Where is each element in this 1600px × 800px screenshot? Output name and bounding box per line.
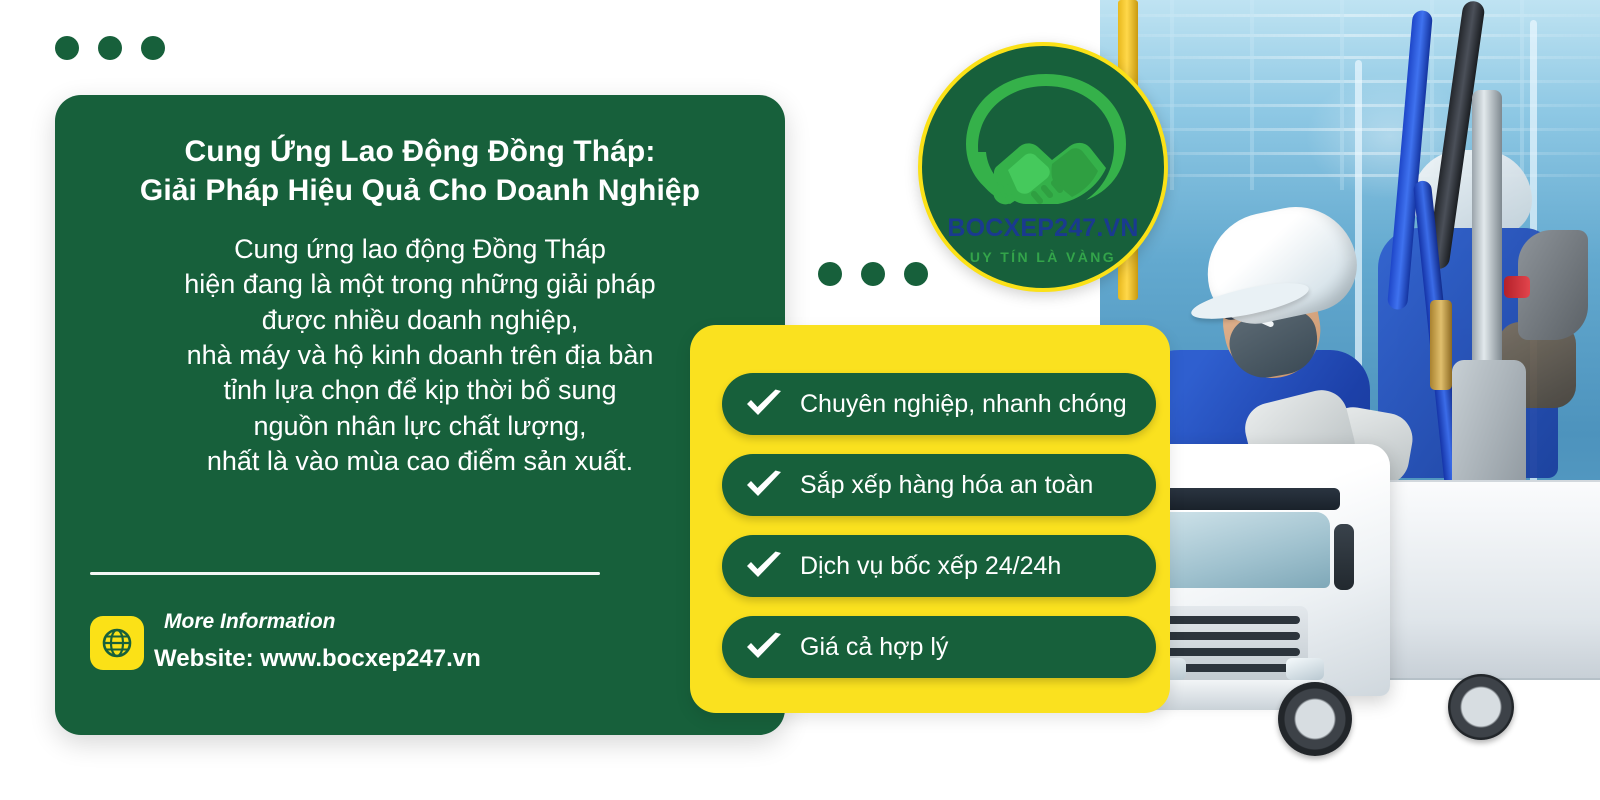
body-line: nhà máy và hộ kinh doanh trên địa bàn	[75, 338, 765, 373]
website-link[interactable]: Website: www.bocxep247.vn	[154, 645, 481, 673]
body-line: được nhiều doanh nghiệp,	[75, 303, 765, 338]
page-title: Cung Ứng Lao Động Đồng Tháp: Giải Pháp H…	[95, 132, 745, 210]
headline-line-2: Giải Pháp Hiệu Quả Cho Doanh Nghiệp	[95, 171, 745, 210]
feature-pill[interactable]: Chuyên nghiệp, nhanh chóng	[722, 373, 1156, 435]
promo-banner: Cung Ứng Lao Động Đồng Tháp: Giải Pháp H…	[0, 0, 1600, 800]
info-card: Cung Ứng Lao Động Đồng Tháp: Giải Pháp H…	[55, 95, 785, 735]
dot-icon	[141, 36, 165, 60]
feature-pill[interactable]: Sắp xếp hàng hóa an toàn	[722, 454, 1156, 516]
truck-wheel-rear	[1448, 674, 1514, 740]
globe-icon	[90, 616, 144, 670]
dot-icon	[861, 262, 885, 286]
check-icon	[744, 631, 784, 663]
red-indicator	[1504, 276, 1530, 298]
truck-trailer	[1365, 480, 1600, 680]
logo-tagline-text: UY TÍN LÀ VÀNG	[922, 249, 1164, 265]
feature-pill[interactable]: Giá cả hợp lý	[722, 616, 1156, 678]
decor-dots-top-left	[55, 36, 165, 60]
body-copy: Cung ứng lao động Đồng Tháp hiện đang là…	[75, 232, 765, 480]
body-line: hiện đang là một trong những giải pháp	[75, 267, 765, 302]
check-icon	[744, 550, 784, 582]
check-icon	[744, 388, 784, 420]
logo-brand-text: BOCXEP247.VN	[922, 214, 1164, 243]
truck-sun-visor	[1142, 488, 1340, 510]
features-card: Chuyên nghiệp, nhanh chóng Sắp xếp hàng …	[690, 325, 1170, 713]
brand-logo[interactable]: BOCXEP247.VN UY TÍN LÀ VÀNG	[918, 42, 1168, 292]
feature-pill[interactable]: Dịch vụ bốc xếp 24/24h	[722, 535, 1156, 597]
body-line: nguồn nhân lực chất lượng,	[75, 409, 765, 444]
feature-label: Dịch vụ bốc xếp 24/24h	[800, 552, 1061, 581]
headline-line-1: Cung Ứng Lao Động Đồng Tháp:	[185, 135, 656, 168]
handshake-circle-icon	[948, 68, 1144, 220]
body-line: Cung ứng lao động Đồng Tháp	[75, 232, 765, 267]
body-line: tỉnh lựa chọn để kịp thời bổ sung	[75, 373, 765, 408]
feature-label: Chuyên nghiệp, nhanh chóng	[800, 390, 1127, 419]
truck-headlight-right	[1286, 658, 1324, 680]
truck-mirror	[1334, 524, 1354, 590]
dot-icon	[818, 262, 842, 286]
decor-dots-middle	[818, 262, 928, 286]
semi-truck-photo	[1110, 430, 1600, 800]
check-icon	[744, 469, 784, 501]
feature-label: Giá cả hợp lý	[800, 633, 948, 662]
truck-wheel-front	[1278, 682, 1352, 756]
brass-fitting	[1430, 300, 1452, 390]
dot-icon	[98, 36, 122, 60]
dot-icon	[904, 262, 928, 286]
more-information-label: More Information	[164, 610, 336, 634]
divider	[90, 572, 600, 575]
truck-windshield	[1152, 512, 1330, 588]
dot-icon	[55, 36, 79, 60]
body-line: nhất là vào mùa cao điểm sản xuất.	[75, 444, 765, 479]
feature-label: Sắp xếp hàng hóa an toàn	[800, 471, 1093, 500]
